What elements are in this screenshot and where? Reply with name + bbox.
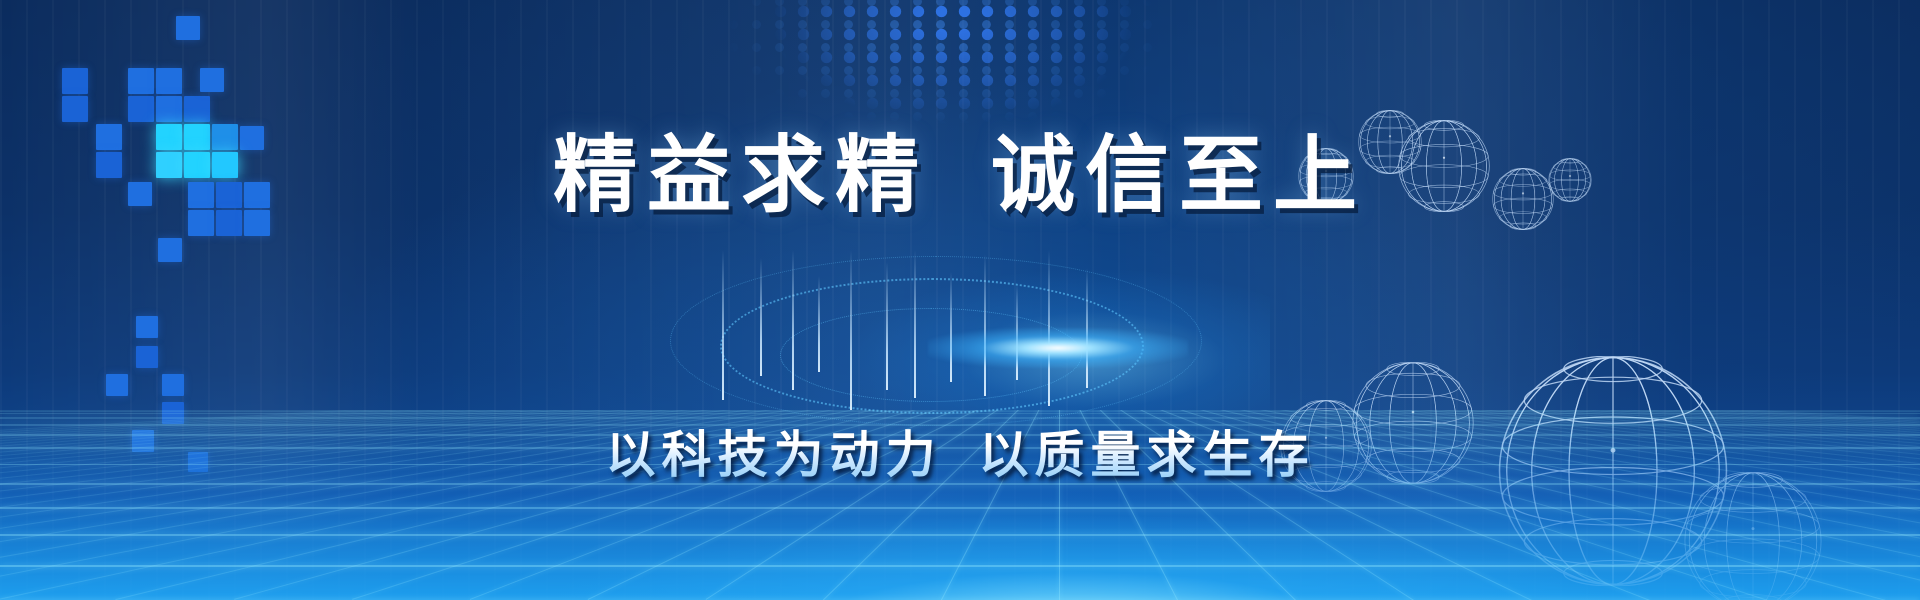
light-beam <box>984 254 986 396</box>
light-beam <box>850 250 852 410</box>
orbit-ring-inner <box>780 308 1082 402</box>
page-subtitle: 以科技为动力 以质量求生存 <box>0 415 1920 487</box>
pixel-square <box>62 68 88 94</box>
light-beam <box>886 262 888 390</box>
light-beam <box>760 258 762 376</box>
light-beam <box>792 250 794 390</box>
pixel-square <box>106 374 128 396</box>
page-title: 精益求精 诚信至上 <box>0 108 1920 229</box>
light-beam <box>1048 250 1050 406</box>
light-beam <box>914 250 916 398</box>
light-beam <box>1086 268 1088 388</box>
grid-line-horizon <box>0 534 1920 536</box>
grid-line-horizon <box>0 411 1920 412</box>
core-light-burst <box>928 328 1188 368</box>
pixel-square <box>128 68 154 94</box>
pixel-square <box>156 68 182 94</box>
light-beam <box>818 276 820 372</box>
orbit-ring-mid <box>720 278 1144 414</box>
pixel-square <box>136 316 158 338</box>
grid-line-horizon <box>0 507 1920 509</box>
light-beam <box>722 250 724 400</box>
hero-banner: 精益求精 诚信至上 以科技为动力 以质量求生存 <box>0 0 1920 600</box>
grid-line-horizon <box>0 565 1920 567</box>
light-beam <box>1016 284 1018 380</box>
glow-core-rings <box>700 250 1220 430</box>
pixel-square <box>136 346 158 368</box>
pixel-square <box>200 68 224 92</box>
light-beam <box>950 272 952 382</box>
pixel-square <box>162 374 184 396</box>
core-halo <box>850 270 1270 430</box>
orbit-ring-outer <box>670 256 1202 426</box>
pixel-square <box>176 16 200 40</box>
grid-line-horizon <box>0 413 1920 414</box>
pixel-square <box>158 238 182 262</box>
